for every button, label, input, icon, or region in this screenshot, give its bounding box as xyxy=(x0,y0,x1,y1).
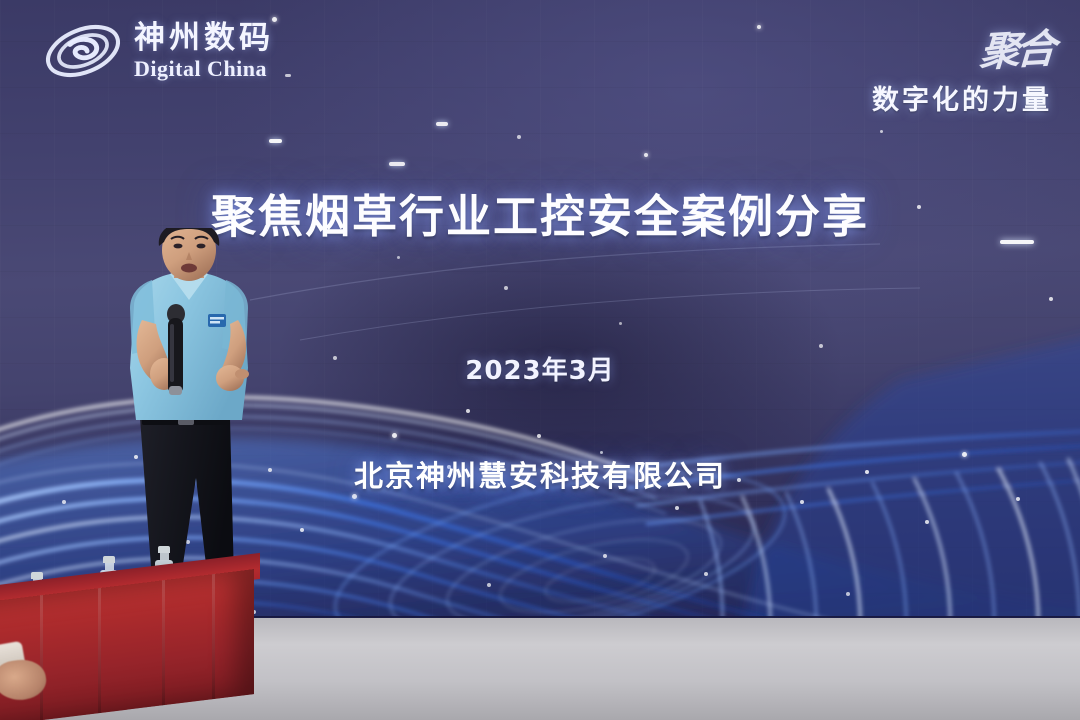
head-table xyxy=(0,586,270,720)
conference-stage-photo: 神州数码 Digital China 聚合 数字化的力量 聚焦烟草行业工控安全案… xyxy=(0,0,1080,720)
slogan-calligraphy: 聚合 xyxy=(978,16,1053,78)
microphone xyxy=(167,304,185,395)
digital-china-logo: 神州数码 Digital China xyxy=(42,20,274,82)
brand-name-en: Digital China xyxy=(134,58,274,80)
presenter-mouth xyxy=(181,264,197,273)
digital-china-swirl-icon xyxy=(42,20,124,82)
presenter-right-eye xyxy=(197,244,206,249)
slogan-subtitle: 数字化的力量 xyxy=(872,78,1052,117)
presenter-right-fingers xyxy=(235,369,249,379)
event-slogan: 聚合 数字化的力量 xyxy=(872,18,1052,117)
stream-faint-upper xyxy=(250,244,920,340)
polo-chest-logo xyxy=(208,314,226,327)
presenter-left-eye xyxy=(174,244,183,249)
brand-text-block: 神州数码 Digital China xyxy=(134,23,274,80)
brand-name-cn: 神州数码 xyxy=(134,23,274,54)
